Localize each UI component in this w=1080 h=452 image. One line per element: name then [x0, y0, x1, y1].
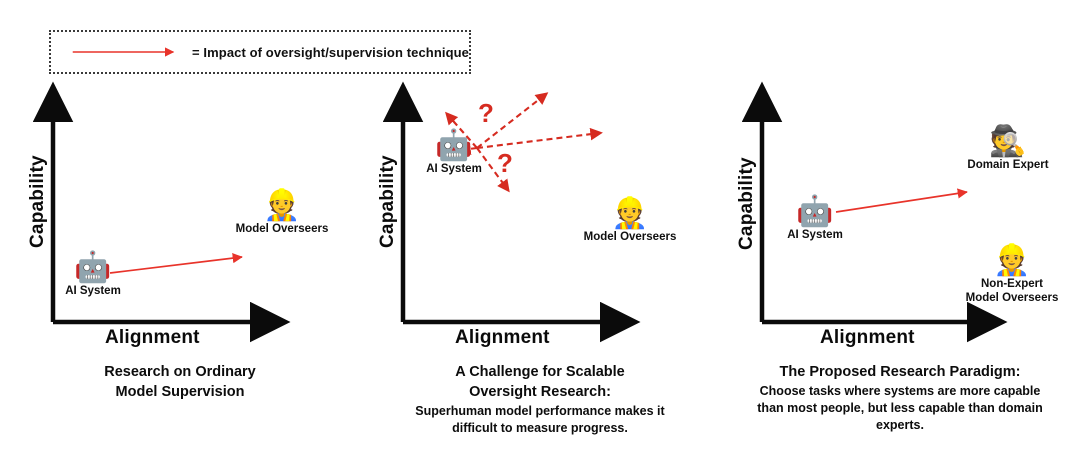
node-ai-system: 🤖 AI System	[423, 130, 485, 177]
panel-caption: The Proposed Research Paradigm: Choose t…	[720, 362, 1080, 434]
node-label: Model Overseers	[580, 231, 680, 245]
caption-subtitle: Choose tasks where systems are more capa…	[720, 383, 1080, 434]
robot-emoji: 🤖	[423, 130, 485, 162]
y-axis-label: Capability	[736, 157, 758, 250]
caption-title: The Proposed Research Paradigm:	[720, 362, 1080, 382]
construction-worker-emoji: 👷	[232, 190, 332, 222]
axes	[720, 0, 1080, 360]
x-axis-label: Alignment	[820, 327, 915, 349]
panel-ordinary-supervision: Capability Alignment 🤖 AI System 👷 Model…	[0, 0, 360, 452]
x-axis-label: Alignment	[105, 327, 200, 349]
construction-worker-emoji: 👷	[580, 198, 680, 230]
node-domain-expert: 🕵️ Domain Expert	[962, 126, 1054, 173]
axes	[0, 0, 360, 360]
node-ai-system: 🤖 AI System	[62, 252, 124, 299]
node-label: Domain Expert	[962, 159, 1054, 173]
impact-arrow	[836, 192, 967, 212]
node-label: AI System	[784, 229, 846, 243]
impact-arrow	[110, 257, 242, 273]
caption-title: Research on Ordinary Model Supervision	[0, 362, 360, 402]
panel-scalable-oversight-challenge: Capability Alignment ? ? 🤖 AI System 👷 M…	[360, 0, 720, 452]
x-axis-label: Alignment	[455, 327, 550, 349]
node-model-overseers: 👷 Model Overseers	[580, 198, 680, 245]
panel-proposed-paradigm: Capability Alignment 🤖 AI System 🕵️ Doma…	[720, 0, 1080, 452]
node-label: Model Overseers	[232, 223, 332, 237]
question-mark-upper: ?	[478, 100, 494, 126]
robot-emoji: 🤖	[784, 196, 846, 228]
caption-title: A Challenge for Scalable Oversight Resea…	[360, 362, 720, 402]
y-axis-label: Capability	[377, 155, 399, 248]
construction-worker-emoji: 👷	[962, 245, 1062, 277]
node-non-expert-model-overseers: 👷 Non-Expert Model Overseers	[962, 245, 1062, 305]
caption-subtitle: Superhuman model performance makes it di…	[360, 403, 720, 437]
panel-caption: Research on Ordinary Model Supervision	[0, 362, 360, 403]
uncertain-arrow-right	[477, 133, 600, 148]
robot-emoji: 🤖	[62, 252, 124, 284]
figure-canvas: = Impact of oversight/supervision techni…	[0, 0, 1080, 452]
node-model-overseers: 👷 Model Overseers	[232, 190, 332, 237]
detective-emoji: 🕵️	[962, 126, 1054, 158]
axes	[360, 0, 720, 360]
node-label: Non-Expert Model Overseers	[962, 278, 1062, 305]
question-mark-lower: ?	[497, 150, 513, 176]
y-axis-label: Capability	[27, 155, 49, 248]
node-ai-system: 🤖 AI System	[784, 196, 846, 243]
node-label: AI System	[423, 163, 485, 177]
node-label: AI System	[62, 285, 124, 299]
panel-caption: A Challenge for Scalable Oversight Resea…	[360, 362, 720, 437]
